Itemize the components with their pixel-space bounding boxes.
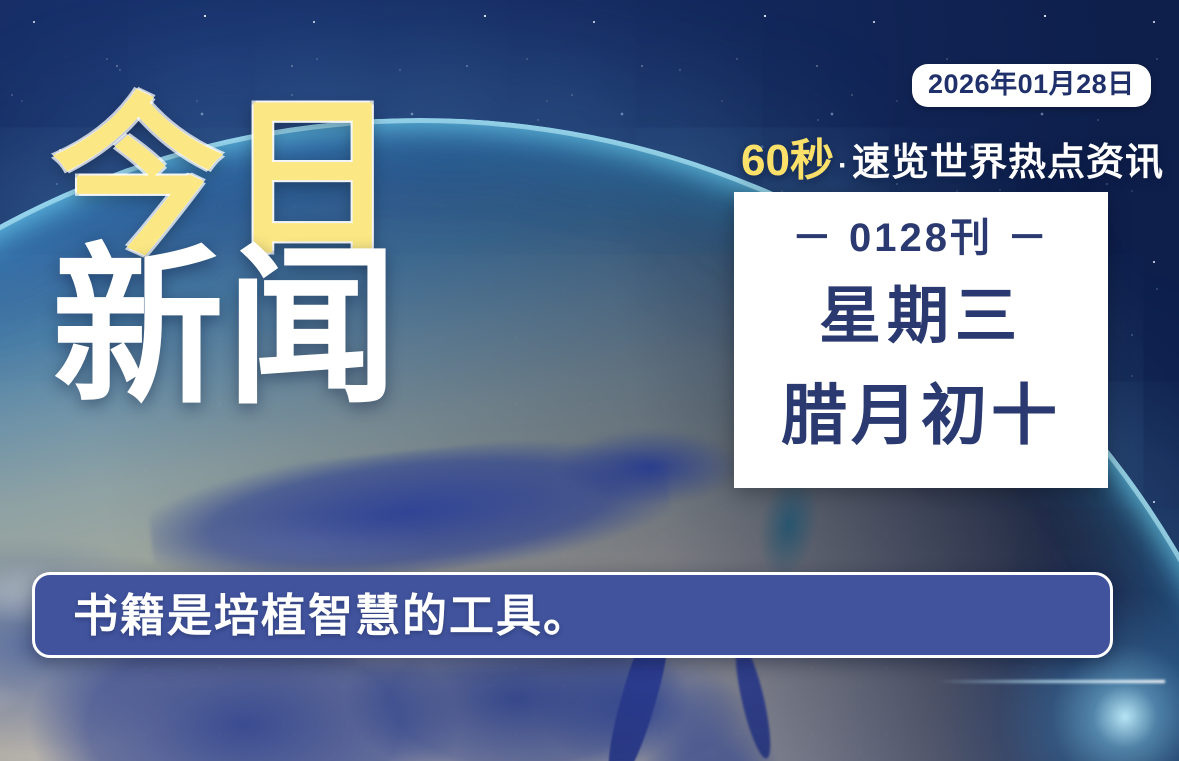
tagline-separator: ·	[834, 149, 852, 182]
weekday-label: 星期三	[819, 286, 1023, 348]
news-poster: 2026年01月28日 今日 新闻 60秒·速览世界热点资讯 － 0128刊 －…	[0, 0, 1179, 761]
quote-bar: 书籍是培植智慧的工具。	[32, 572, 1113, 658]
tagline: 60秒·速览世界热点资讯	[741, 139, 1164, 183]
lens-flare-streak	[935, 680, 1165, 683]
issue-info-card: － 0128刊 － 星期三 腊月初十	[734, 192, 1108, 488]
quote-text: 书籍是培植智慧的工具。	[73, 593, 590, 638]
date-badge: 2026年01月28日	[912, 64, 1151, 107]
tagline-text: 速览世界热点资讯	[852, 142, 1164, 184]
page-title: 今日 新闻	[52, 96, 400, 412]
issue-number: － 0128刊 －	[792, 218, 1050, 258]
headline-line-2: 新闻	[52, 245, 400, 412]
tagline-seconds: 60秒	[741, 136, 834, 185]
lunar-date-label: 腊月初十	[781, 382, 1061, 448]
black-sea	[560, 430, 740, 504]
